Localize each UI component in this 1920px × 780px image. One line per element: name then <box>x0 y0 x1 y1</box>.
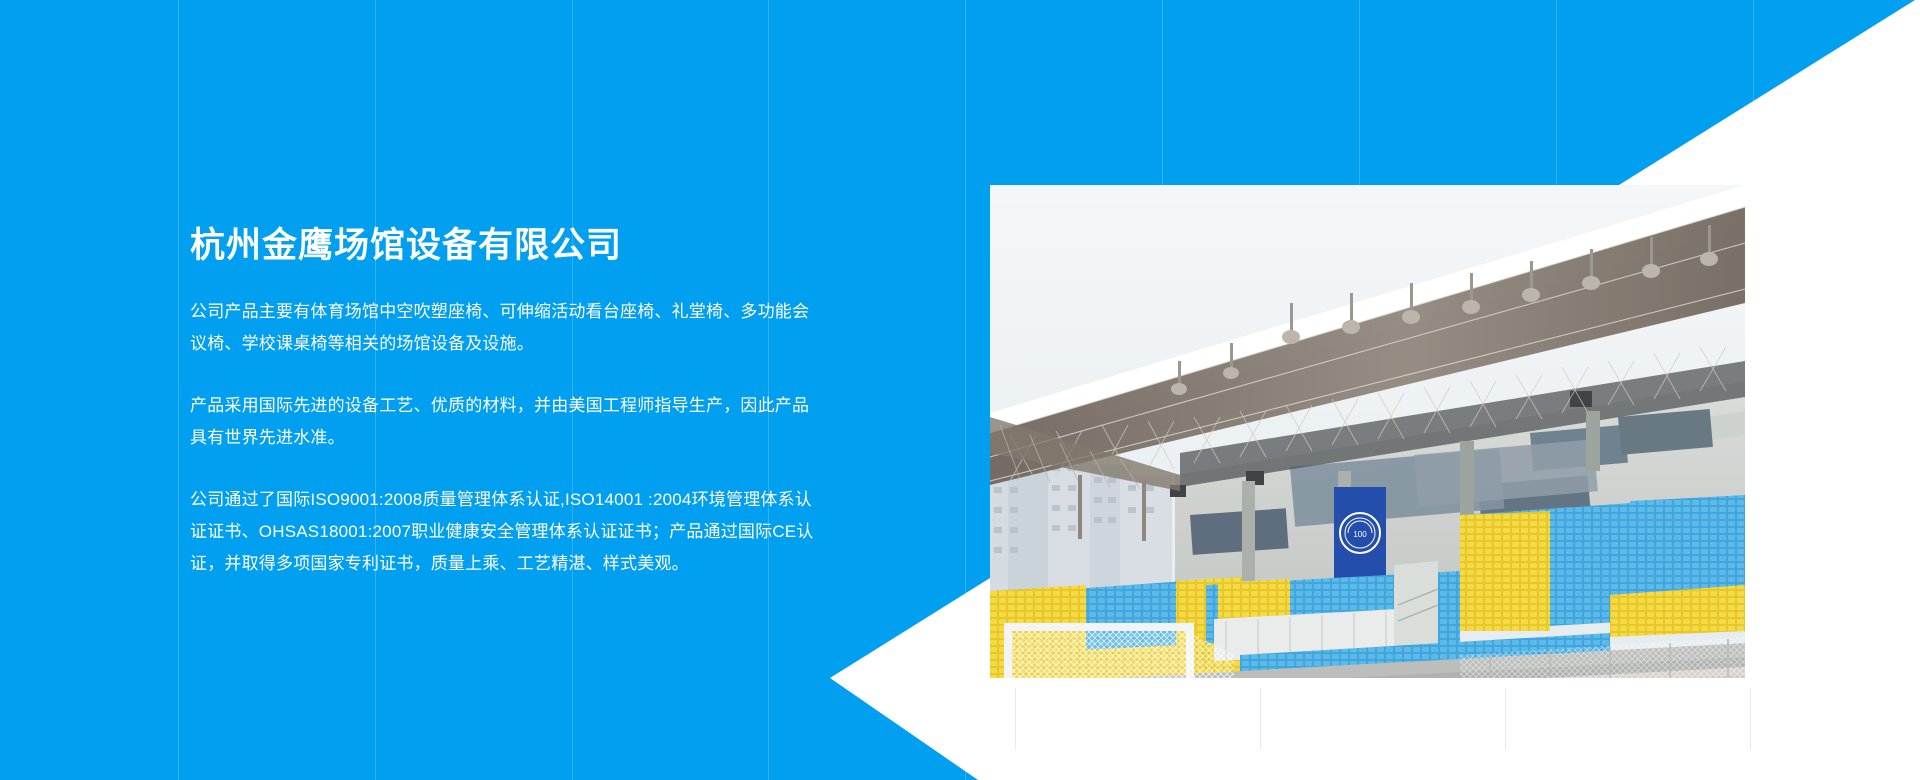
hero-copy: 杭州金鹰场馆设备有限公司 公司产品主要有体育场馆中空吹塑座椅、可伸缩活动看台座椅… <box>190 222 815 580</box>
hero-paragraph-certifications: 公司通过了国际ISO9001:2008质量管理体系认证,ISO14001 :20… <box>190 484 815 580</box>
hero-paragraph-quality: 产品采用国际先进的设备工艺、优质的材料，并由美国工程师指导生产，因此产品具有世界… <box>190 390 815 454</box>
lower-grid-line <box>1750 688 1751 750</box>
lower-grid-line <box>1260 688 1261 750</box>
hero-banner: 杭州金鹰场馆设备有限公司 公司产品主要有体育场馆中空吹塑座椅、可伸缩活动看台座椅… <box>0 0 1920 780</box>
stadium-photo: 100 <box>990 185 1745 678</box>
lower-grid-line <box>1505 688 1506 750</box>
hero-paragraph-products: 公司产品主要有体育场馆中空吹塑座椅、可伸缩活动看台座椅、礼堂椅、多功能会议椅、学… <box>190 296 815 360</box>
page-title: 杭州金鹰场馆设备有限公司 <box>190 222 815 270</box>
grid-line <box>1753 0 1754 780</box>
lower-grid-line <box>1015 688 1016 750</box>
